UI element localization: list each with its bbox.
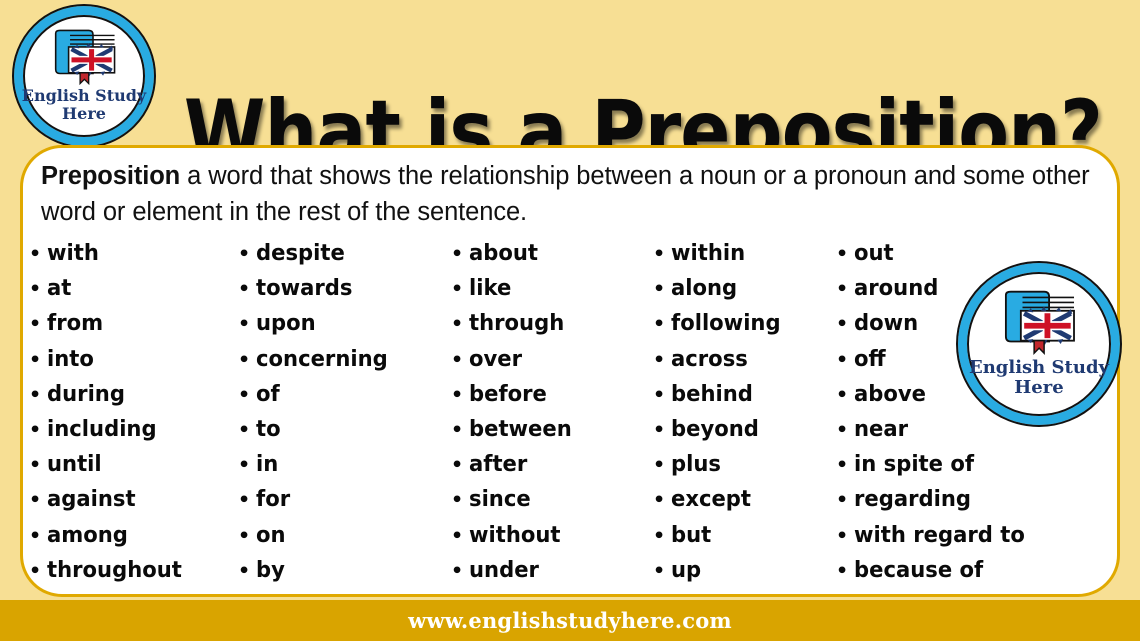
preposition-word: near xyxy=(854,417,908,442)
bullet-icon: • xyxy=(836,386,854,405)
preposition-word: without xyxy=(469,523,561,548)
preposition-word: between xyxy=(469,417,572,442)
bullet-icon: • xyxy=(238,386,256,405)
bullet-icon: • xyxy=(653,386,671,405)
preposition-word: to xyxy=(256,417,281,442)
list-item[interactable]: •towards xyxy=(238,276,451,311)
bullet-icon: • xyxy=(653,456,671,475)
bullet-icon: • xyxy=(653,491,671,510)
content-card: Preposition a word that shows the relati… xyxy=(20,145,1120,597)
list-item[interactable]: •despite xyxy=(238,241,451,276)
bullet-icon: • xyxy=(29,491,47,510)
bullet-icon: • xyxy=(836,421,854,440)
list-item[interactable]: •except xyxy=(653,487,836,522)
list-item[interactable]: •against xyxy=(29,487,238,522)
bullet-icon: • xyxy=(29,527,47,546)
preposition-word: concerning xyxy=(256,347,388,372)
bullet-icon: • xyxy=(451,386,469,405)
bullet-icon: • xyxy=(29,245,47,264)
list-item[interactable]: •behind xyxy=(653,382,836,417)
list-item[interactable]: •upon xyxy=(238,311,451,346)
preposition-word: following xyxy=(671,311,781,336)
bullet-icon: • xyxy=(451,491,469,510)
bullet-icon: • xyxy=(238,456,256,475)
list-item[interactable]: •since xyxy=(451,487,653,522)
preposition-word: above xyxy=(854,382,926,407)
list-item[interactable]: •with xyxy=(29,241,238,276)
footer-bar: www.englishstudyhere.com xyxy=(0,600,1140,641)
bullet-icon: • xyxy=(836,245,854,264)
preposition-word: against xyxy=(47,487,136,512)
bullet-icon: • xyxy=(29,315,47,334)
list-item[interactable]: •without xyxy=(451,523,653,558)
preposition-word: off xyxy=(854,347,886,372)
preposition-word: around xyxy=(854,276,938,301)
preposition-word: out xyxy=(854,241,894,266)
list-item[interactable]: •by xyxy=(238,558,451,593)
bullet-icon: • xyxy=(451,421,469,440)
list-item[interactable]: •across xyxy=(653,347,836,382)
bullet-icon: • xyxy=(451,562,469,581)
list-item[interactable]: •about xyxy=(451,241,653,276)
preposition-word: but xyxy=(671,523,711,548)
preposition-word: regarding xyxy=(854,487,971,512)
preposition-word: about xyxy=(469,241,538,266)
bullet-icon: • xyxy=(29,386,47,405)
bullet-icon: • xyxy=(238,245,256,264)
logo-content: English Study Here xyxy=(958,263,1120,425)
logo-text: English Study Here xyxy=(22,87,146,123)
preposition-word: within xyxy=(671,241,745,266)
list-item[interactable]: •because of xyxy=(836,558,1096,593)
preposition-list-2: •despite •towards •upon •concerning •of … xyxy=(238,241,451,593)
preposition-word: including xyxy=(47,417,157,442)
bullet-icon: • xyxy=(836,280,854,299)
preposition-column-3: •about •like •through •over •before •bet… xyxy=(451,241,653,593)
preposition-word: since xyxy=(469,487,531,512)
logo-text-line-2: Here xyxy=(969,378,1109,398)
bullet-icon: • xyxy=(29,456,47,475)
list-item[interactable]: •for xyxy=(238,487,451,522)
bullet-icon: • xyxy=(238,351,256,370)
list-item[interactable]: •beyond xyxy=(653,417,836,452)
bullet-icon: • xyxy=(836,351,854,370)
logo-text-line-2: Here xyxy=(22,105,146,123)
preposition-word: into xyxy=(47,347,94,372)
list-item[interactable]: •to xyxy=(238,417,451,452)
list-item[interactable]: •from xyxy=(29,311,238,346)
definition-body: a word that shows the relationship betwe… xyxy=(41,162,1090,226)
list-item[interactable]: •over xyxy=(451,347,653,382)
list-item[interactable]: •into xyxy=(29,347,238,382)
preposition-word: from xyxy=(47,311,103,336)
preposition-column-4: •within •along •following •across •behin… xyxy=(653,241,836,593)
bullet-icon: • xyxy=(451,527,469,546)
bullet-icon: • xyxy=(653,527,671,546)
bullet-icon: • xyxy=(836,527,854,546)
list-item[interactable]: •among xyxy=(29,523,238,558)
bullet-icon: • xyxy=(653,245,671,264)
preposition-word: in spite of xyxy=(854,452,974,477)
list-item[interactable]: •between xyxy=(451,417,653,452)
bullet-icon: • xyxy=(451,280,469,299)
preposition-word: during xyxy=(47,382,125,407)
bullet-icon: • xyxy=(238,562,256,581)
bullet-icon: • xyxy=(836,562,854,581)
bullet-icon: • xyxy=(29,280,47,299)
preposition-word: over xyxy=(469,347,522,372)
preposition-word: under xyxy=(469,558,539,583)
list-item[interactable]: •through xyxy=(451,311,653,346)
preposition-word: on xyxy=(256,523,286,548)
preposition-word: through xyxy=(469,311,564,336)
preposition-columns: •with •at •from •into •during •including… xyxy=(29,241,1117,593)
list-item[interactable]: •before xyxy=(451,382,653,417)
list-item[interactable]: •after xyxy=(451,452,653,487)
bullet-icon: • xyxy=(451,245,469,264)
preposition-word: like xyxy=(469,276,511,301)
bullet-icon: • xyxy=(653,315,671,334)
definition-term: Preposition xyxy=(41,162,180,190)
bullet-icon: • xyxy=(836,491,854,510)
logo-text: English Study Here xyxy=(969,358,1109,398)
infographic-page: What is a Preposition? xyxy=(0,0,1140,641)
preposition-word: down xyxy=(854,311,918,336)
definition-text: Preposition a word that shows the relati… xyxy=(41,158,1091,230)
book-with-uk-flag-icon xyxy=(997,290,1081,355)
bullet-icon: • xyxy=(653,562,671,581)
preposition-word: because of xyxy=(854,558,983,583)
preposition-word: at xyxy=(47,276,71,301)
logo-text-line-1: English Study xyxy=(969,358,1109,378)
bullet-icon: • xyxy=(238,421,256,440)
bullet-icon: • xyxy=(653,421,671,440)
preposition-word: in xyxy=(256,452,278,477)
preposition-word: plus xyxy=(671,452,721,477)
bullet-icon: • xyxy=(836,315,854,334)
website-url[interactable]: www.englishstudyhere.com xyxy=(408,608,732,633)
preposition-list-4: •within •along •following •across •behin… xyxy=(653,241,836,593)
bullet-icon: • xyxy=(238,315,256,334)
preposition-list-1: •with •at •from •into •during •including… xyxy=(29,241,238,593)
preposition-word: across xyxy=(671,347,748,372)
logo-text-line-1: English Study xyxy=(22,87,146,105)
preposition-word: beyond xyxy=(671,417,759,442)
preposition-word: until xyxy=(47,452,102,477)
preposition-word: by xyxy=(256,558,285,583)
preposition-word: despite xyxy=(256,241,345,266)
header-banner: What is a Preposition? xyxy=(0,0,1140,148)
preposition-word: up xyxy=(671,558,701,583)
bullet-icon: • xyxy=(238,527,256,546)
list-item[interactable]: •on xyxy=(238,523,451,558)
brand-logo-top[interactable]: English Study Here xyxy=(14,6,154,146)
list-item[interactable]: •concerning xyxy=(238,347,451,382)
list-item[interactable]: •during xyxy=(29,382,238,417)
bullet-icon: • xyxy=(451,315,469,334)
list-item[interactable]: •following xyxy=(653,311,836,346)
preposition-word: of xyxy=(256,382,280,407)
preposition-word: among xyxy=(47,523,128,548)
list-item[interactable]: •throughout xyxy=(29,558,238,593)
preposition-word: throughout xyxy=(47,558,182,583)
bullet-icon: • xyxy=(451,351,469,370)
preposition-word: with xyxy=(47,241,99,266)
bullet-icon: • xyxy=(29,421,47,440)
preposition-word: before xyxy=(469,382,547,407)
brand-logo-bottom[interactable]: English Study Here xyxy=(958,263,1120,425)
list-item[interactable]: •plus xyxy=(653,452,836,487)
list-item[interactable]: •with regard to xyxy=(836,523,1096,558)
bullet-icon: • xyxy=(238,280,256,299)
list-item[interactable]: •in spite of xyxy=(836,452,1096,487)
list-item[interactable]: •up xyxy=(653,558,836,593)
list-item[interactable]: •like xyxy=(451,276,653,311)
list-item[interactable]: •in xyxy=(238,452,451,487)
bullet-icon: • xyxy=(238,491,256,510)
list-item[interactable]: •within xyxy=(653,241,836,276)
preposition-column-2: •despite •towards •upon •concerning •of … xyxy=(238,241,451,593)
bullet-icon: • xyxy=(29,351,47,370)
preposition-word: except xyxy=(671,487,751,512)
list-item[interactable]: •at xyxy=(29,276,238,311)
list-item[interactable]: •regarding xyxy=(836,487,1096,522)
list-item[interactable]: •under xyxy=(451,558,653,593)
bullet-icon: • xyxy=(29,562,47,581)
bullet-icon: • xyxy=(836,456,854,475)
preposition-list-3: •about •like •through •over •before •bet… xyxy=(451,241,653,593)
preposition-word: behind xyxy=(671,382,753,407)
list-item[interactable]: •including xyxy=(29,417,238,452)
preposition-word: after xyxy=(469,452,527,477)
preposition-word: towards xyxy=(256,276,352,301)
preposition-word: upon xyxy=(256,311,316,336)
bullet-icon: • xyxy=(451,456,469,475)
book-with-uk-flag-icon xyxy=(48,29,121,85)
list-item[interactable]: •until xyxy=(29,452,238,487)
list-item[interactable]: •but xyxy=(653,523,836,558)
preposition-word: along xyxy=(671,276,737,301)
bullet-icon: • xyxy=(653,351,671,370)
list-item[interactable]: •along xyxy=(653,276,836,311)
bullet-icon: • xyxy=(653,280,671,299)
preposition-word: with regard to xyxy=(854,523,1025,548)
logo-content: English Study Here xyxy=(14,6,154,146)
preposition-word: for xyxy=(256,487,290,512)
list-item[interactable]: •of xyxy=(238,382,451,417)
preposition-column-1: •with •at •from •into •during •including… xyxy=(29,241,238,593)
